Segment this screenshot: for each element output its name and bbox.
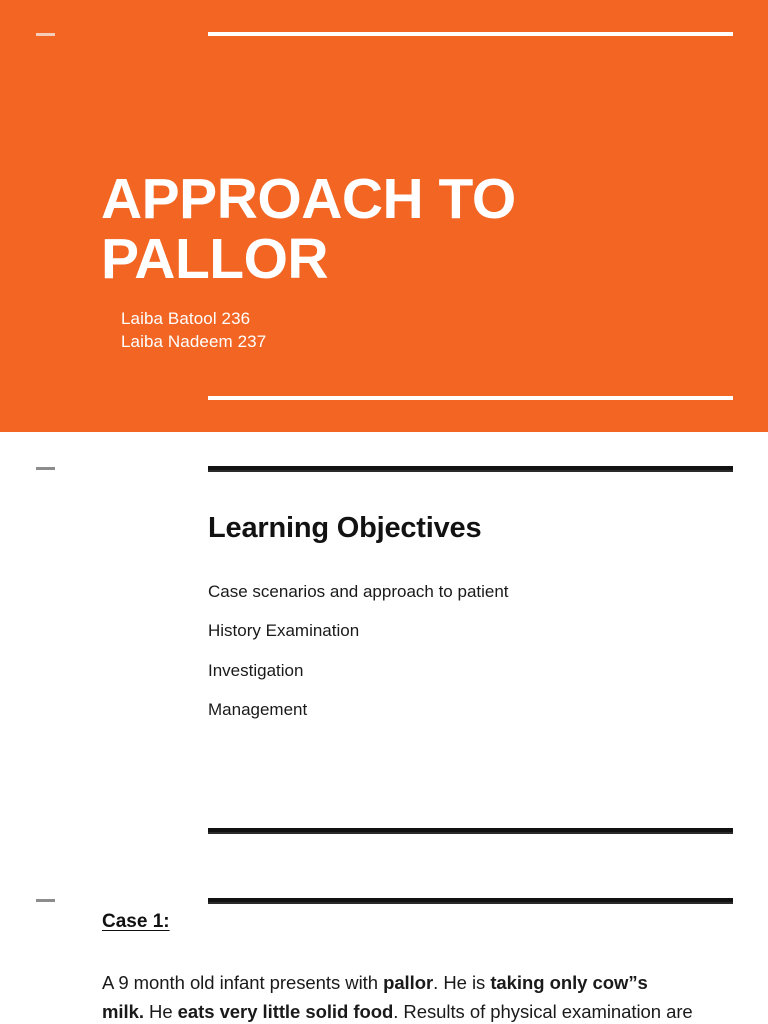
list-item: Investigation <box>208 651 708 690</box>
slide-case-1: Case 1: A 9 month old infant presents wi… <box>0 864 768 1024</box>
page-title: APPROACH TO PALLOR <box>101 170 741 290</box>
case-label: Case 1: <box>102 911 170 933</box>
dash-marker-icon <box>36 33 55 36</box>
section-heading: Learning Objectives <box>208 512 481 545</box>
objectives-bottom-rule <box>208 828 733 832</box>
list-item: Case scenarios and approach to patient <box>208 572 708 611</box>
slide-document: APPROACH TO PALLOR Laiba Batool 236 Laib… <box>0 0 768 1024</box>
dash-marker-icon <box>36 467 55 470</box>
objective-list: Case scenarios and approach to patient H… <box>208 572 708 730</box>
title-bottom-rule <box>208 396 733 400</box>
body-text: A 9 month old infant presents with <box>102 972 383 993</box>
body-text: He <box>144 1001 178 1022</box>
emphasis-text: pallor <box>383 972 433 993</box>
author-name: Laiba Batool 236 <box>121 307 266 330</box>
slide-title: APPROACH TO PALLOR Laiba Batool 236 Laib… <box>0 0 768 432</box>
objectives-top-rule <box>208 466 733 470</box>
dash-marker-icon <box>36 899 55 902</box>
emphasis-text: eats very little solid food <box>178 1001 394 1022</box>
case-top-rule <box>208 898 733 902</box>
list-item: Management <box>208 690 708 729</box>
title-top-rule <box>208 32 733 36</box>
author-list: Laiba Batool 236 Laiba Nadeem 237 <box>121 307 266 353</box>
case-paragraph: A 9 month old infant presents with pallo… <box>102 968 694 1024</box>
slide-learning-objectives: Learning Objectives Case scenarios and a… <box>0 432 768 864</box>
body-text: . He is <box>433 972 490 993</box>
list-item: History Examination <box>208 611 708 650</box>
author-name: Laiba Nadeem 237 <box>121 330 266 353</box>
